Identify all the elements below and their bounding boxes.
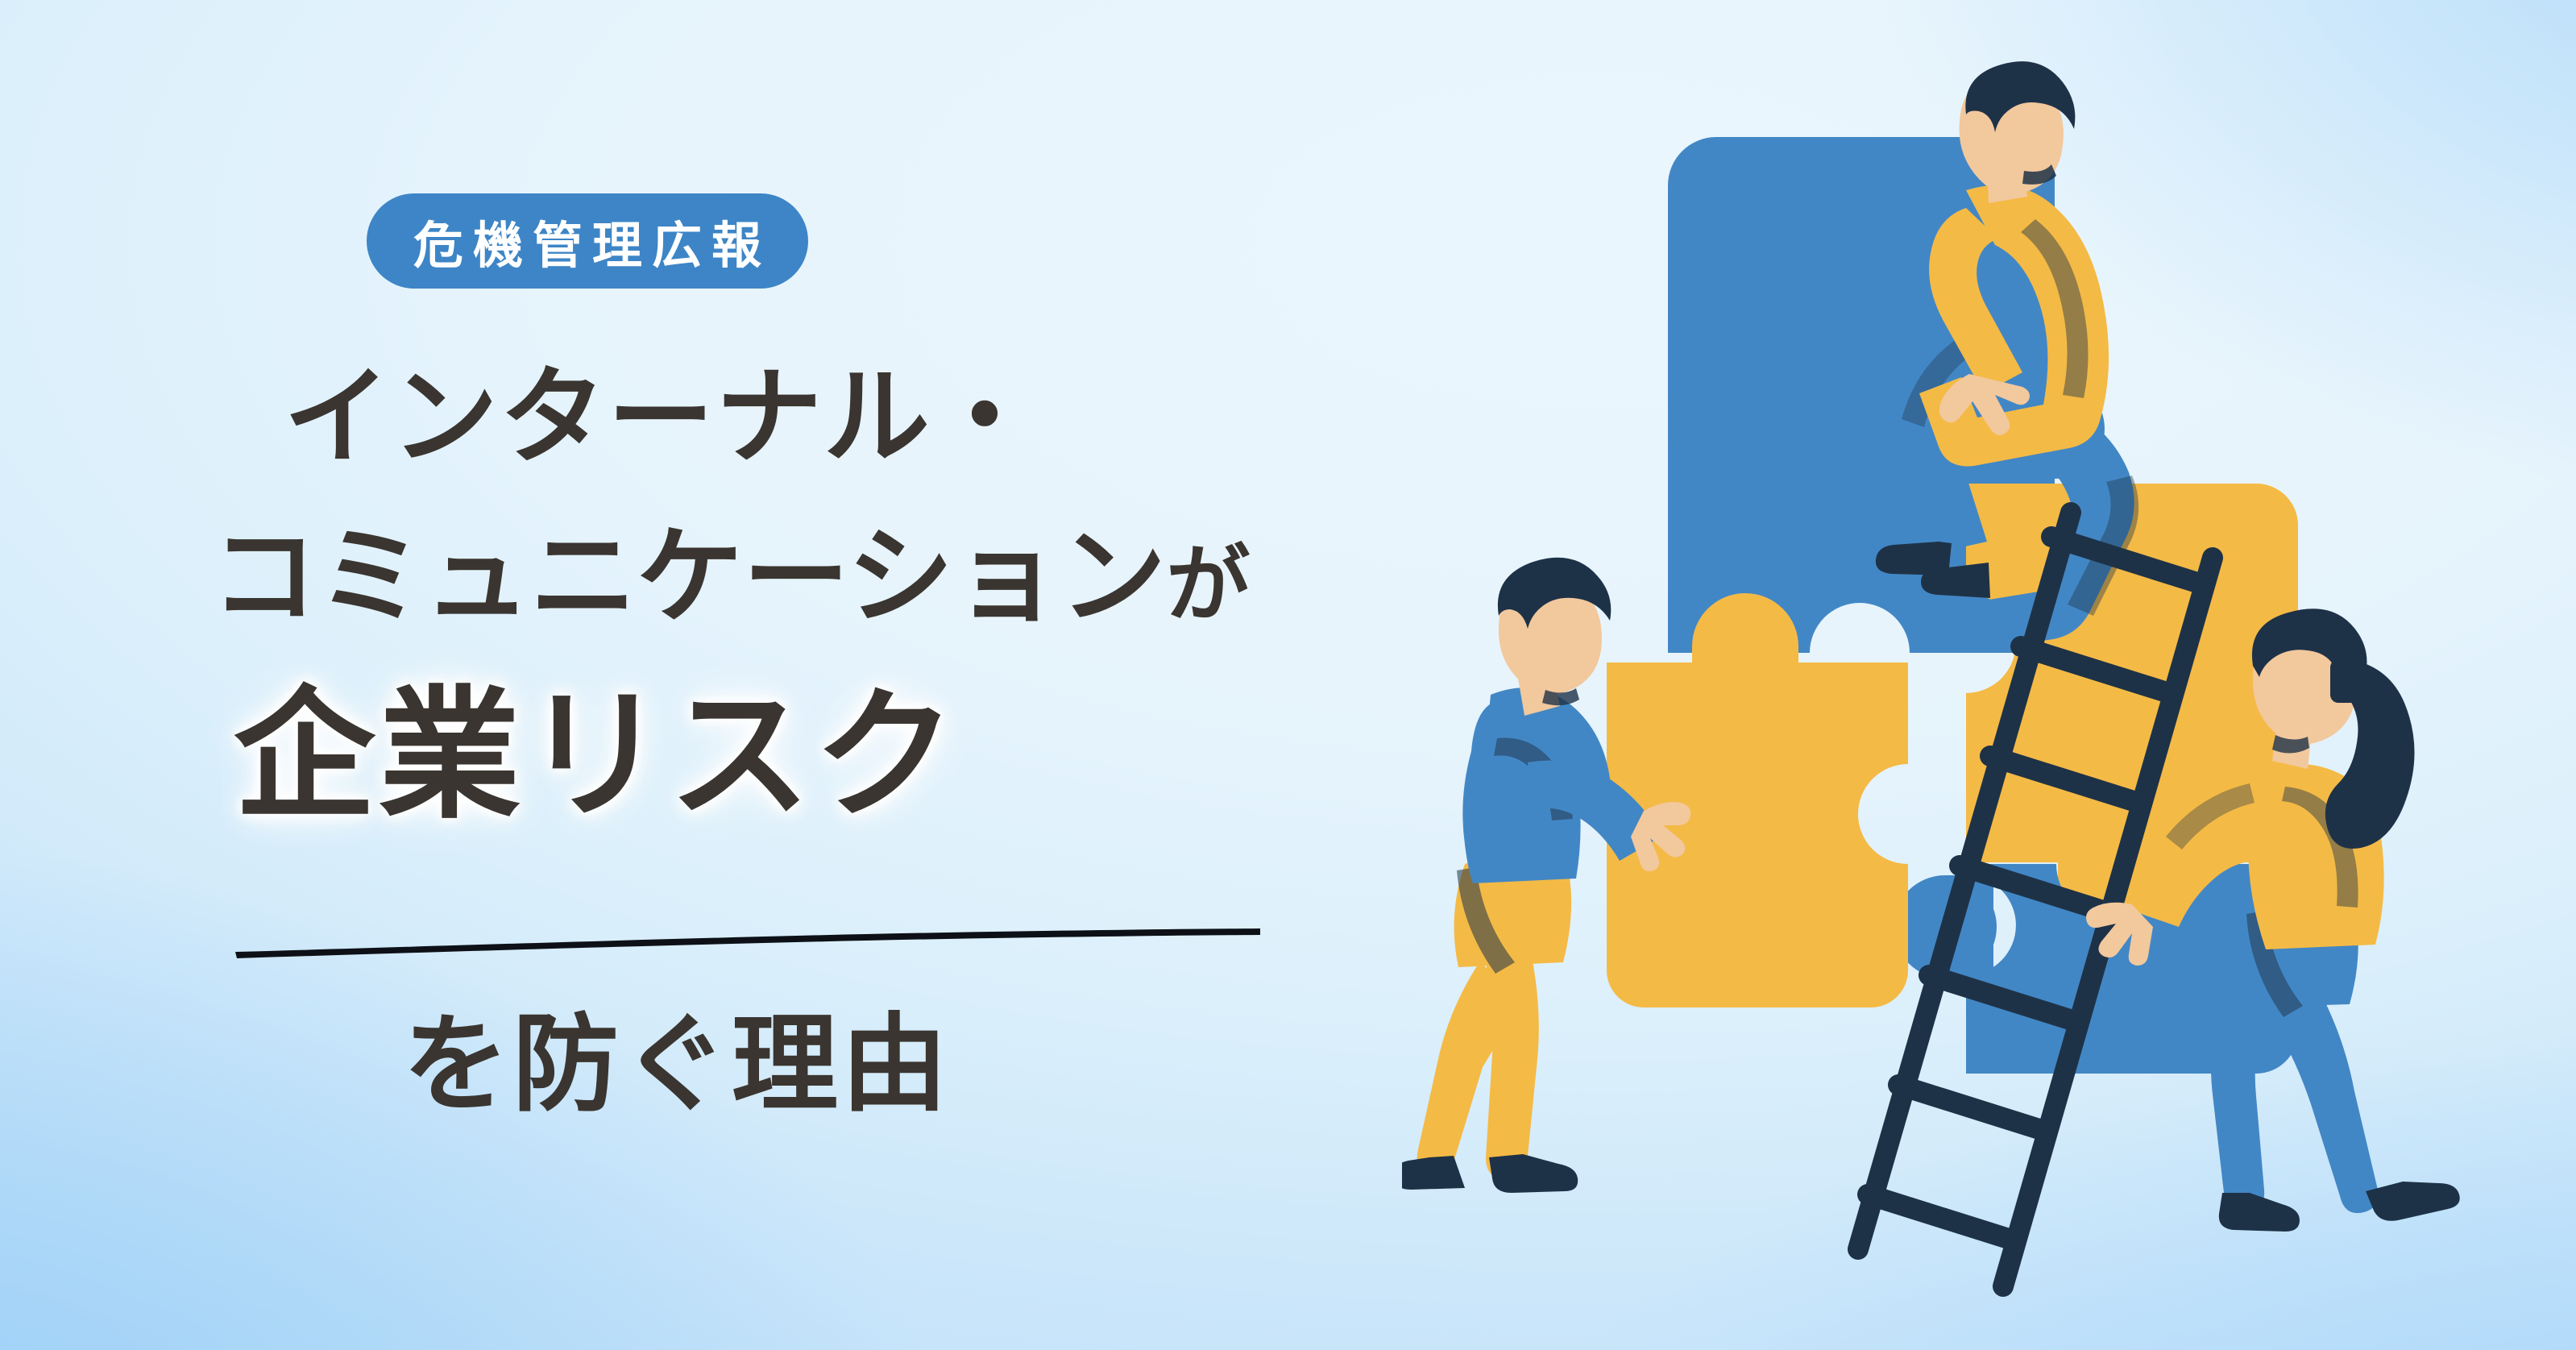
hero-banner: 危機管理広報 インターナル・ コミュニケーションが 企業リスク を防ぐ理由 — [0, 0, 2576, 1350]
teamwork-puzzle-illustration — [1402, 48, 2576, 1306]
headline-line-2-main: コミュニケーション — [211, 515, 1166, 639]
headline-line-1: インターナル・ — [284, 364, 1039, 471]
category-badge: 危機管理広報 — [367, 193, 808, 289]
hand-drawn-underline — [232, 925, 1263, 957]
puzzle-piece-left-yellow — [1607, 593, 1908, 1007]
headline-line-2: コミュニケーションが — [211, 524, 1250, 630]
headline-line-4: を防ぐ理由 — [403, 1011, 951, 1118]
headline-block: 危機管理広報 インターナル・ コミュニケーションが 企業リスク を防ぐ理由 — [0, 0, 1418, 1350]
headline-highlight: 企業リスク — [234, 685, 959, 827]
headline-line-2-suffix: が — [1166, 535, 1250, 633]
